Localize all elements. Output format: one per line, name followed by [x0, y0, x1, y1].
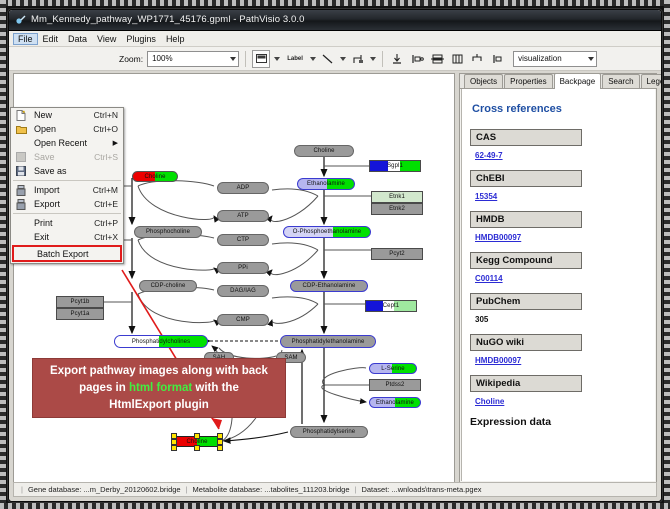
border-dash-bottom	[0, 503, 670, 509]
file-menu-save-as-label: Save as	[29, 166, 118, 176]
node-cept1-label: Cept1	[383, 303, 400, 309]
status-bar: | Gene database: ...m_Derby_20120602.bri…	[13, 482, 657, 497]
node-sgpl1-label: Sgpl1	[387, 163, 403, 169]
file-menu-batch-export[interactable]: Batch Export	[12, 245, 122, 262]
interaction-tool-icon[interactable]	[350, 51, 366, 67]
expression-data-title: Expression data	[470, 416, 647, 428]
align-top-icon[interactable]	[389, 51, 405, 67]
screenshot-root: Mm_Kennedy_pathway_WP1771_45176.gpml - P…	[0, 0, 670, 509]
node-ethanolamine-2-label: Ethanolamine	[376, 400, 414, 406]
file-menu-print-accel: Ctrl+P	[94, 218, 123, 228]
toolbar-divider-2	[382, 51, 383, 67]
align-left-icon[interactable]	[409, 51, 425, 67]
node-l-serine-label: L-Serine	[381, 366, 404, 372]
common-width-icon[interactable]	[449, 51, 465, 67]
zoom-value: 100%	[152, 54, 172, 63]
node-adp[interactable]: ADP	[217, 182, 269, 194]
file-menu-import-accel: Ctrl+M	[93, 185, 123, 195]
label-tool-icon[interactable]: Label	[284, 51, 306, 67]
xref-db-nugo: NuGO wiki	[470, 334, 582, 351]
node-ctp[interactable]: CTP	[217, 234, 269, 246]
toolbar-divider	[245, 51, 246, 67]
node-phosphatidylserine[interactable]: Phosphatidylserine	[290, 426, 368, 438]
callout-line-2-post: with the	[192, 382, 239, 394]
selection-handle-n[interactable]	[194, 433, 200, 439]
file-menu-import-label: Import	[29, 185, 93, 195]
node-etnk1[interactable]: Etnk1	[371, 191, 423, 203]
line-dropdown-icon[interactable]	[340, 57, 346, 61]
callout-line-2-pre: pages in	[79, 382, 129, 394]
node-pcyt2[interactable]: Pcyt2	[371, 248, 423, 260]
folder-icon	[13, 123, 29, 135]
visualization-value: visualization	[518, 54, 562, 63]
menu-view[interactable]: View	[92, 33, 121, 45]
file-menu-new-label: New	[29, 110, 94, 120]
file-menu-batch-export-label: Batch Export	[32, 249, 120, 259]
file-menu-import[interactable]: Import Ctrl+M	[11, 183, 123, 197]
status-divider-0: |	[21, 485, 23, 494]
xref-db-hmdb: HMDB	[470, 211, 582, 228]
node-dag-iag[interactable]: DAG/IAG	[217, 285, 269, 297]
visualization-combo[interactable]: visualization	[513, 51, 597, 67]
zoom-combo[interactable]: 100%	[147, 51, 239, 67]
callout-line-2-green: html format	[129, 382, 192, 394]
node-ethanolamine-1-label: Ethanolamine	[307, 181, 345, 187]
node-cmp[interactable]: CMP	[217, 314, 269, 326]
blank-icon-4	[16, 248, 32, 260]
node-cept1[interactable]: Cept1	[365, 300, 417, 312]
status-dataset-value: ...wnloads\trans-meta.pgex	[391, 485, 481, 494]
status-gene-db-label: Gene database:	[28, 485, 81, 494]
status-divider-1: |	[186, 485, 188, 494]
xref-value-nugo[interactable]: HMDB00097	[475, 356, 647, 365]
file-menu-save-as[interactable]: Save as	[11, 164, 123, 178]
file-menu-open-accel: Ctrl+O	[93, 124, 123, 134]
xref-db-pubchem: PubChem	[470, 293, 582, 310]
node-sgpl1[interactable]: Sgpl1	[369, 160, 421, 172]
xref-value-wikipedia[interactable]: Choline	[475, 397, 647, 406]
file-menu-print-label: Print	[29, 218, 94, 228]
file-menu-open-recent-label: Open Recent	[29, 138, 113, 148]
zoom-label: Zoom:	[119, 54, 143, 64]
node-atp[interactable]: ATP	[217, 210, 269, 222]
ungroup-icon[interactable]	[489, 51, 505, 67]
selection-handle-s[interactable]	[194, 445, 200, 451]
file-menu-exit[interactable]: Exit Ctrl+X	[11, 230, 123, 244]
xref-value-cas[interactable]: 62-49-7	[475, 151, 647, 160]
menu-data[interactable]: Data	[63, 33, 92, 45]
annotation-callout: Export pathway images along with back pa…	[32, 358, 286, 418]
border-dash-left	[0, 0, 6, 509]
file-menu-separator-2	[13, 213, 121, 214]
node-phosphatidylcholines[interactable]: Phosphatidylcholines	[114, 335, 208, 348]
import-icon	[13, 184, 29, 196]
tab-objects[interactable]: Objects	[464, 74, 503, 88]
title-bar: Mm_Kennedy_pathway_WP1771_45176.gpml - P…	[9, 10, 661, 31]
file-menu-open[interactable]: Open Ctrl+O	[11, 122, 123, 136]
blank-icon-3	[13, 231, 29, 243]
menu-help[interactable]: Help	[161, 33, 190, 45]
xref-db-kegg: Kegg Compound	[470, 252, 582, 269]
node-phosphatidylcholines-label: Phosphatidylcholines	[132, 339, 190, 345]
line-tool-icon[interactable]	[320, 51, 336, 67]
backpage-content: Cross references CAS 62-49-7 ChEBI 15354…	[461, 89, 655, 481]
node-o-phosphoethanolamine[interactable]: O-Phosphoethanolamine	[283, 226, 371, 238]
tab-search[interactable]: Search	[602, 74, 639, 88]
save-icon	[13, 151, 29, 163]
label-tool-text: Label	[287, 56, 303, 62]
node-choline-top-label: Choline	[144, 174, 165, 180]
node-ptdss2[interactable]: Ptdss2	[369, 379, 421, 391]
file-menu-save-accel: Ctrl+S	[94, 152, 123, 162]
node-phosphocholine[interactable]: Phosphocholine	[134, 226, 202, 238]
blank-icon-1	[13, 137, 29, 149]
node-sphingolipids[interactable]: Choline	[294, 145, 354, 157]
selection-handle-se[interactable]	[217, 445, 223, 451]
file-menu-separator-1	[13, 180, 121, 181]
file-menu-open-label: Open	[29, 124, 93, 134]
menu-bar[interactable]: File Edit Data View Plugins Help	[9, 31, 661, 47]
file-menu-export-accel: Ctrl+E	[94, 199, 123, 209]
stack-center-icon[interactable]	[429, 51, 445, 67]
menu-plugins[interactable]: Plugins	[121, 33, 161, 45]
xref-value-pubchem: 305	[475, 315, 647, 324]
border-dash-top	[0, 0, 670, 6]
node-ppi[interactable]: PPi	[217, 262, 269, 274]
file-menu-export-label: Export	[29, 199, 94, 209]
status-divider-2: |	[354, 485, 356, 494]
chevron-down-icon	[230, 57, 236, 61]
save-as-icon	[13, 165, 29, 177]
tab-backpage[interactable]: Backpage	[554, 73, 602, 89]
file-menu-exit-label: Exit	[29, 232, 94, 242]
side-panel-tabs[interactable]: Objects Properties Backpage Search Legen…	[460, 74, 656, 89]
xref-db-wikipedia: Wikipedia	[470, 375, 582, 392]
node-choline-bottom-label: Choline	[186, 439, 207, 445]
cross-references-title: Cross references	[472, 103, 647, 115]
node-phosphatidylethanolamine[interactable]: Phosphatidylethanolamine	[280, 335, 376, 348]
file-menu-popup[interactable]: New Ctrl+N Open Ctrl+O Open Recent ▶	[10, 107, 124, 264]
datanode-dropdown-icon[interactable]	[274, 57, 280, 61]
menu-file[interactable]: File	[13, 33, 38, 45]
file-menu-export[interactable]: Export Ctrl+E	[11, 197, 123, 211]
file-menu-save-label: Save	[29, 152, 94, 162]
file-menu-save: Save Ctrl+S	[11, 150, 123, 164]
new-file-icon	[13, 109, 29, 121]
side-panel: Objects Properties Backpage Search Legen…	[459, 73, 657, 483]
pathvisio-icon	[15, 14, 27, 26]
window-title: Mm_Kennedy_pathway_WP1771_45176.gpml - P…	[31, 14, 305, 25]
file-menu-print[interactable]: Print Ctrl+P	[11, 216, 123, 230]
node-pcyt1a[interactable]: Pcyt1a	[56, 308, 104, 320]
callout-line-1: Export pathway images along with back	[50, 365, 268, 377]
pathvisio-window: Mm_Kennedy_pathway_WP1771_45176.gpml - P…	[8, 9, 662, 502]
xref-value-hmdb[interactable]: HMDB00097	[475, 233, 647, 242]
status-gene-db-value: ...m_Derby_20120602.bridge	[83, 485, 180, 494]
xref-value-chebi[interactable]: 15354	[475, 192, 647, 201]
status-metab-db-value: ...tabolites_111203.bridge	[264, 485, 349, 494]
file-menu-new-accel: Ctrl+N	[94, 110, 123, 120]
node-pcyt1b[interactable]: Pcyt1b	[56, 296, 104, 308]
export-icon	[13, 198, 29, 210]
file-menu-open-recent[interactable]: Open Recent ▶	[11, 136, 123, 150]
callout-line-3: HtmlExport plugin	[109, 399, 209, 411]
group-icon[interactable]	[469, 51, 485, 67]
border-dash-right	[664, 0, 670, 509]
node-cdp-choline[interactable]: CDP-choline	[139, 280, 197, 292]
menu-edit[interactable]: Edit	[38, 33, 64, 45]
xref-value-kegg[interactable]: C00114	[475, 274, 647, 283]
datanode-tool-icon[interactable]	[252, 50, 270, 68]
node-ethanolamine-1[interactable]: Ethanolamine	[297, 178, 355, 190]
file-menu-new[interactable]: New Ctrl+N	[11, 108, 123, 122]
node-o-phosphoethanolamine-label: O-Phosphoethanolamine	[293, 229, 361, 235]
node-etnk2[interactable]: Etnk2	[371, 203, 423, 215]
submenu-arrow-icon: ▶	[113, 139, 123, 147]
interaction-dropdown-icon[interactable]	[370, 57, 376, 61]
status-dataset-label: Dataset:	[361, 485, 389, 494]
node-ethanolamine-2[interactable]: Ethanolamine	[369, 397, 421, 408]
xref-db-cas: CAS	[470, 129, 582, 146]
chevron-down-icon-2	[588, 57, 594, 61]
tool-bar[interactable]: Zoom: 100% Label	[9, 47, 661, 71]
node-l-serine[interactable]: L-Serine	[369, 363, 417, 374]
status-metab-db-label: Metabolite database:	[193, 485, 263, 494]
file-menu-exit-accel: Ctrl+X	[94, 232, 123, 242]
xref-db-chebi: ChEBI	[470, 170, 582, 187]
selection-handle-sw[interactable]	[171, 445, 177, 451]
label-dropdown-icon[interactable]	[310, 57, 316, 61]
window-body: ADP ATP Phosphocholine CTP PPi CDP-choli…	[9, 71, 661, 501]
node-choline-top[interactable]: Choline	[132, 171, 178, 182]
tab-legend[interactable]: Legend	[641, 74, 662, 88]
tab-properties[interactable]: Properties	[504, 74, 552, 88]
node-cdp-ethanolamine[interactable]: CDP-Ethanolamine	[290, 280, 368, 292]
blank-icon-2	[13, 217, 29, 229]
